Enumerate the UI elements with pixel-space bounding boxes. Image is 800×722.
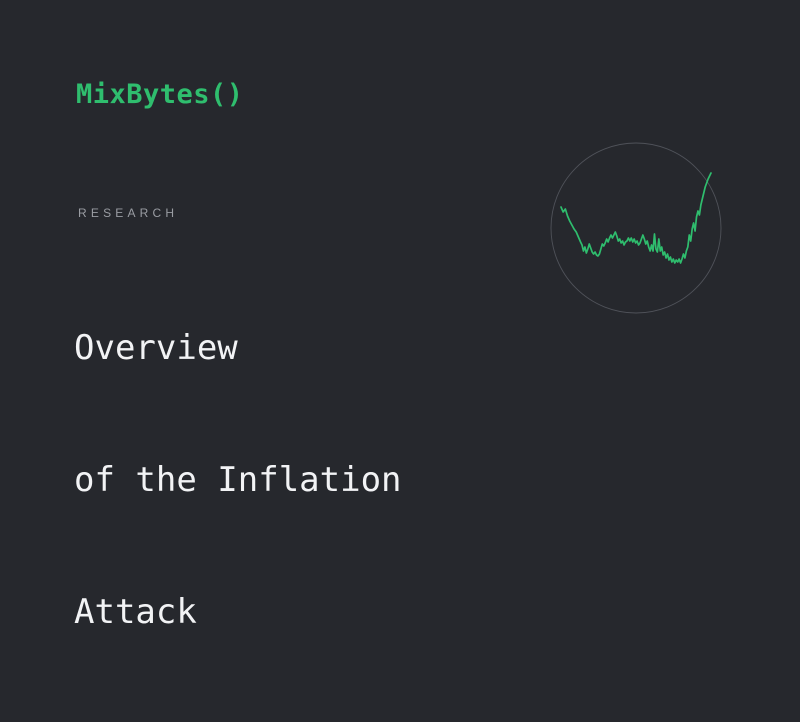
chart-svg: [546, 138, 726, 318]
slide-canvas: MixBytes() RESEARCH Overview of the Infl…: [0, 0, 800, 450]
page-title-line-3: Attack: [74, 590, 402, 634]
category-label-research: RESEARCH: [78, 205, 178, 221]
page-title-line-1: Overview: [74, 326, 402, 370]
circular-price-chart: [546, 138, 726, 318]
price-line-path: [561, 173, 711, 263]
mixbytes-logo[interactable]: MixBytes(): [76, 78, 244, 112]
page-title: Overview of the Inflation Attack: [74, 238, 402, 722]
page-title-line-2: of the Inflation: [74, 458, 402, 502]
